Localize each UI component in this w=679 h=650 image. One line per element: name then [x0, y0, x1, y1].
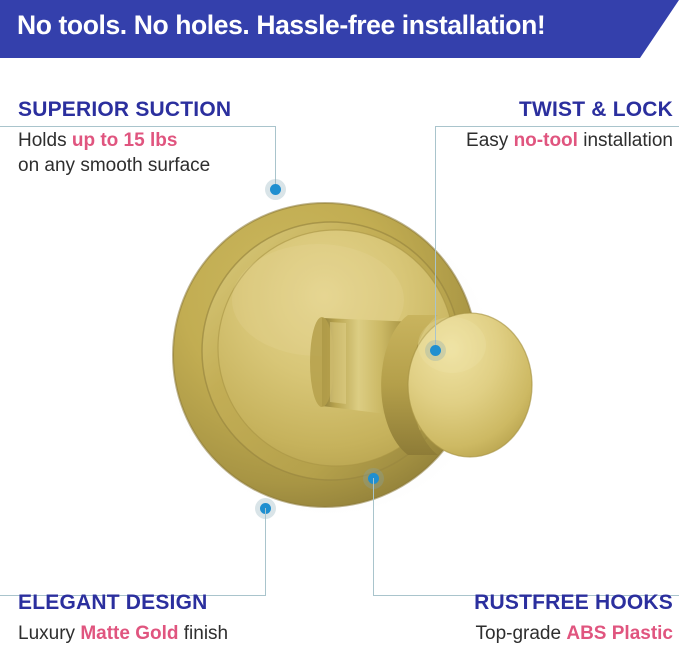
leader-line-elegant-design-vertical: [265, 508, 266, 596]
callout-elegant-design-line1-strong: Matte Gold: [80, 623, 178, 644]
callout-superior-suction-line2: on any smooth surface: [18, 153, 231, 178]
callout-elegant-design-line1-pre: Luxury: [18, 623, 80, 644]
callout-elegant-design: ELEGANT DESIGN Luxury Matte Gold finish: [18, 591, 228, 646]
infographic-page: No tools. No holes. Hassle-free installa…: [0, 0, 679, 650]
callout-twist-lock-line1-post: installation: [578, 130, 673, 151]
callout-dot-superior-suction: [270, 184, 281, 195]
callout-elegant-design-heading: ELEGANT DESIGN: [18, 591, 228, 615]
callout-rustfree-hooks-line1-strong: ABS Plastic: [566, 623, 673, 644]
callout-dot-twist-lock: [430, 345, 441, 356]
leader-line-rustfree-hooks-vertical: [373, 478, 374, 596]
callout-twist-lock-line1-pre: Easy: [466, 130, 514, 151]
callout-twist-lock: TWIST & LOCK Easy no-tool installation: [466, 98, 673, 153]
leader-line-superior-suction-vertical: [275, 126, 276, 190]
callout-rustfree-hooks: RUSTFREE HOOKS Top-grade ABS Plastic: [474, 591, 673, 646]
callout-superior-suction-line1-pre: Holds: [18, 130, 72, 151]
callout-rustfree-hooks-heading: RUSTFREE HOOKS: [474, 591, 673, 615]
knob-cap-highlight: [418, 317, 486, 373]
callout-superior-suction-line1-strong: up to 15 lbs: [72, 130, 178, 151]
callout-twist-lock-line1: Easy no-tool installation: [466, 128, 673, 153]
callout-twist-lock-line1-strong: no-tool: [514, 130, 578, 151]
header-banner-inner: No tools. No holes. Hassle-free installa…: [0, 0, 679, 50]
callout-elegant-design-line1: Luxury Matte Gold finish: [18, 621, 228, 646]
callout-rustfree-hooks-line1: Top-grade ABS Plastic: [474, 621, 673, 646]
leader-line-twist-lock-vertical: [435, 126, 436, 351]
callout-superior-suction-heading: SUPERIOR SUCTION: [18, 98, 231, 122]
banner-title: No tools. No holes. Hassle-free installa…: [0, 0, 545, 50]
callout-twist-lock-heading: TWIST & LOCK: [466, 98, 673, 122]
post-highlight: [330, 322, 346, 404]
callout-superior-suction-line1: Holds up to 15 lbs: [18, 128, 231, 153]
callout-superior-suction: SUPERIOR SUCTION Holds up to 15 lbs on a…: [18, 98, 231, 178]
callout-elegant-design-line1-post: finish: [178, 623, 228, 644]
callout-rustfree-hooks-line1-pre: Top-grade: [476, 623, 567, 644]
